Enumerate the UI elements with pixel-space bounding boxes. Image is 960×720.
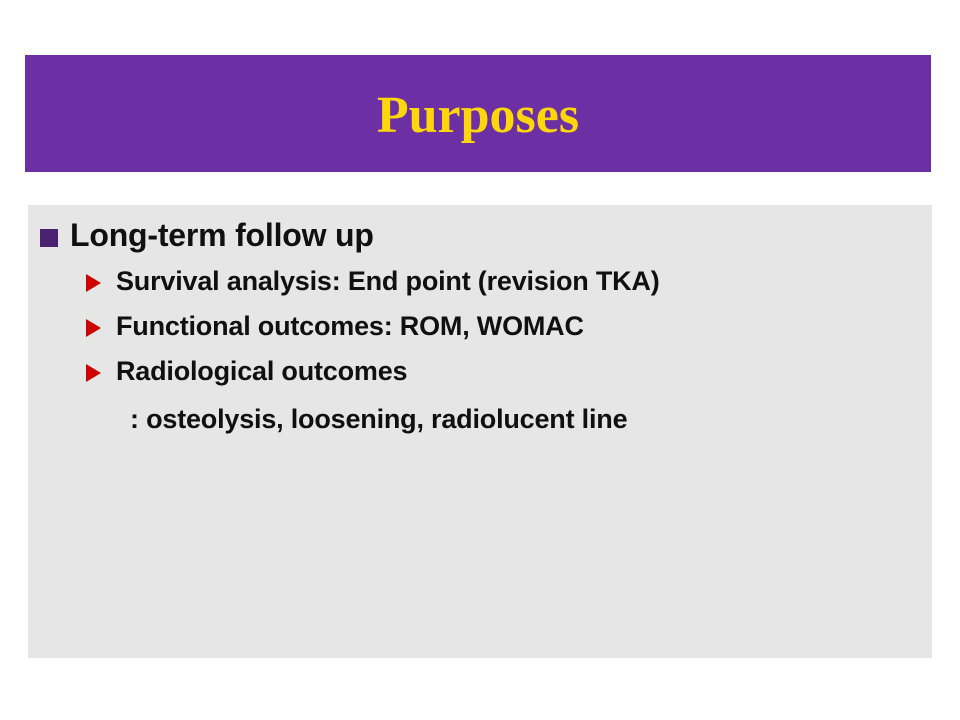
- slide-title: Purposes: [377, 90, 579, 142]
- slide-content-panel: Long-term follow up Survival analysis: E…: [28, 205, 932, 658]
- bullet-item-level1: Long-term follow up: [40, 218, 374, 253]
- square-bullet-icon: [40, 229, 58, 247]
- triangle-bullet-icon: [86, 274, 101, 292]
- slide-title-bar: Purposes: [25, 55, 931, 172]
- presentation-slide: Purposes Long-term follow up Survival an…: [0, 0, 960, 720]
- bullet-level1-label: Long-term follow up: [70, 218, 374, 253]
- bullet-level2-label: Survival analysis: End point (revision T…: [116, 267, 660, 297]
- bullet-continuation-label: : osteolysis, loosening, radiolucent lin…: [130, 405, 627, 435]
- bullet-item-level2: Radiological outcomes: [86, 357, 407, 387]
- bullet-level2-label: Radiological outcomes: [116, 357, 407, 387]
- bullet-item-level2: Functional outcomes: ROM, WOMAC: [86, 312, 584, 342]
- bullet-level2-label: Functional outcomes: ROM, WOMAC: [116, 312, 584, 342]
- bullet-item-level2: Survival analysis: End point (revision T…: [86, 267, 660, 297]
- triangle-bullet-icon: [86, 364, 101, 382]
- triangle-bullet-icon: [86, 319, 101, 337]
